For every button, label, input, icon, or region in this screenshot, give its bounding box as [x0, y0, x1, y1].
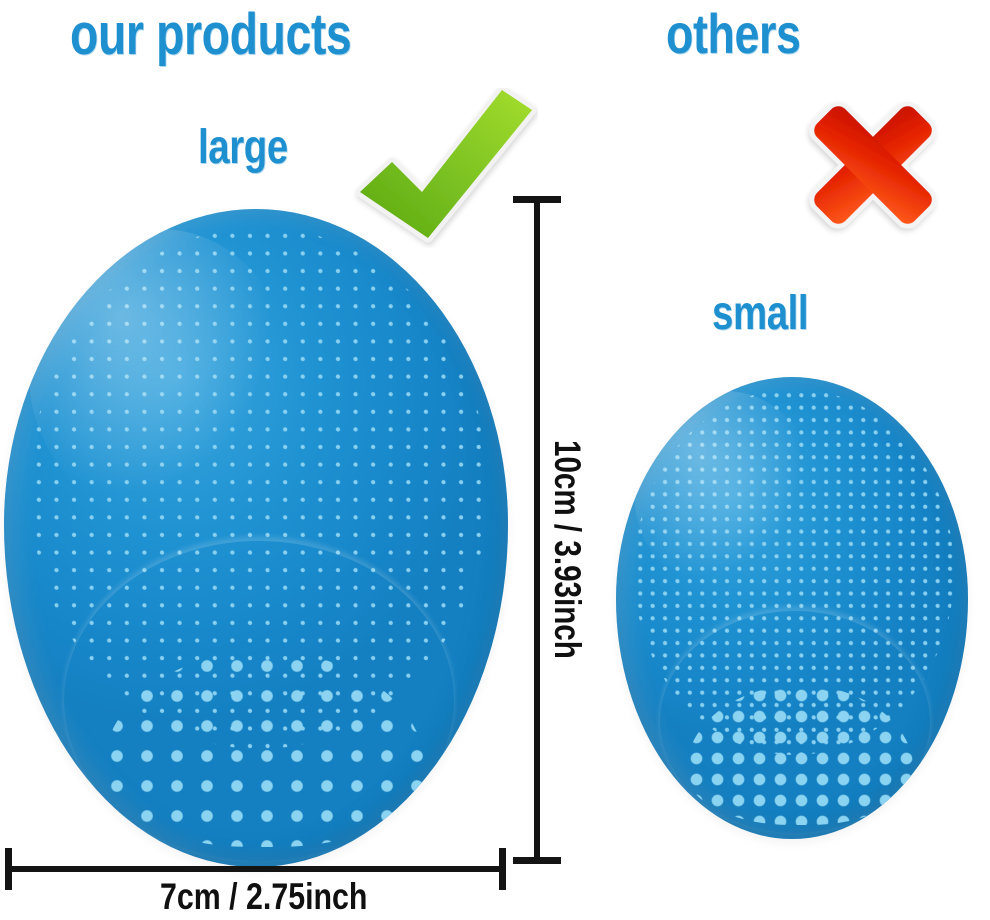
dimension-label-height: 10cm / 3.93inch [549, 440, 586, 659]
dimension-line-horizontal [6, 866, 506, 872]
dimension-cap-horizontal-left [5, 848, 12, 890]
product-comparison-image: our products others large small [0, 0, 990, 920]
dimension-cap-vertical-top [513, 196, 561, 203]
pad-body-large [4, 209, 508, 867]
cross-mark-icon [796, 90, 950, 240]
dimension-label-width: 7cm / 2.75inch [160, 878, 367, 915]
check-mark-icon [352, 88, 538, 248]
size-label-small: small [712, 290, 808, 338]
product-image-small-pad [616, 377, 968, 839]
size-label-large: large [198, 124, 288, 172]
heading-others: others [666, 6, 801, 62]
dimension-cap-vertical-bottom [513, 857, 561, 864]
product-image-large-pad [4, 209, 508, 867]
pad-body-small [616, 377, 968, 839]
heading-our-products: our products [70, 6, 351, 64]
dimension-cap-horizontal-right [499, 848, 506, 890]
dimension-line-vertical [534, 198, 540, 864]
